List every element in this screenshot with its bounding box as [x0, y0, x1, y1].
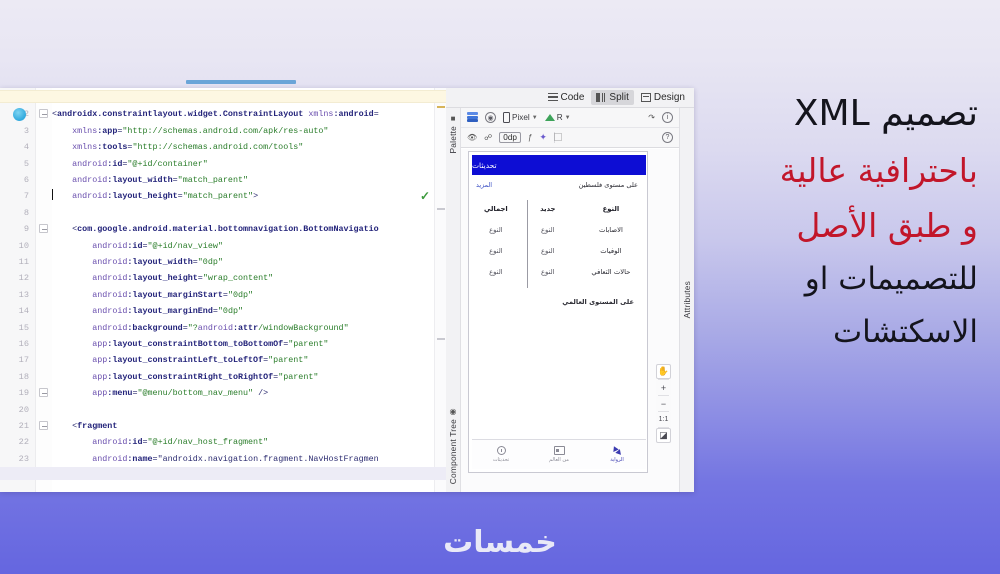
line-number: 14 [19, 307, 29, 316]
attributes-label: Attributes [682, 281, 692, 318]
bottom-nav-item-2[interactable]: من العالم [530, 446, 588, 463]
column-header-total: اجمالي [472, 205, 520, 213]
tab-design-label: Design [654, 92, 685, 103]
column-header-type: النوع [576, 205, 646, 213]
error-stripe-tick[interactable] [437, 106, 445, 108]
magic-wand-icon[interactable]: ✦ [539, 132, 547, 143]
design-toolbar-row-2: 👁 ☍ 0dp ƒ ✦ ⃞ ? [461, 128, 679, 148]
code-line: android:layout_height="wrap_content" [52, 274, 273, 282]
zoom-out-icon[interactable]: − [656, 396, 671, 411]
design-toolbar-row-1: ◉ Pixel ▼ R ▼ ↷ i [461, 108, 679, 128]
line-number: 13 [19, 291, 29, 300]
code-line: android:id="@+id/nav_view" [52, 242, 223, 250]
visibility-icon[interactable]: 👁 [467, 133, 477, 142]
cell-total: النوع [472, 247, 520, 255]
device-preview-frame[interactable]: تحديثات على مستوى فلسطين المزيد النوع جد… [468, 151, 648, 473]
palette-label: Palette [448, 126, 458, 153]
api-label: R [557, 113, 563, 122]
component-tree-icon: ◉ [450, 407, 457, 416]
code-text[interactable]: <?xml version="1.0" encoding="utf-8"?><a… [52, 88, 420, 492]
promo-line-2: باحترافية عالية [710, 154, 978, 187]
component-tree-label: Component Tree [448, 419, 458, 484]
code-line: android:layout_width="0dp" [52, 258, 223, 266]
code-line: android:id="@+id/nav_host_fragment" [52, 438, 268, 446]
line-number-gutter: 123456789101112131415161718192021222324 [0, 88, 36, 492]
birds-icon [612, 446, 623, 455]
line-number: 12 [19, 274, 29, 283]
preview-footnote: على المستوى العالمي [472, 298, 646, 306]
zoom-fit-icon[interactable]: ◪ [656, 428, 671, 443]
fold-toggle[interactable] [39, 109, 48, 118]
history-arrow-icon[interactable]: ↷ [648, 113, 655, 122]
code-line: android:layout_width="match_parent" [52, 176, 248, 184]
design-frame-icon [641, 93, 651, 102]
layers-icon[interactable] [467, 112, 478, 123]
editor-mode-tabs: Code Split Design [446, 88, 694, 108]
code-line: app:layout_constraintRight_toRightOf="pa… [52, 373, 318, 381]
class-marker-icon[interactable] [13, 108, 26, 121]
left-tool-strip: ■ Palette ◉ Component Tree [446, 108, 461, 492]
table-row: الوفيات النوع النوع [472, 240, 646, 261]
fold-toggle[interactable] [39, 388, 48, 397]
line-number: 16 [19, 340, 29, 349]
brand-watermark: خمسات [0, 525, 1000, 560]
blueprint-eye-icon[interactable]: ◉ [485, 112, 496, 123]
promo-line-3: و طبق الأصل [710, 209, 978, 242]
code-line: android:layout_height="match_parent"> [52, 192, 258, 200]
cell-total: النوع [472, 226, 520, 234]
stats-table: النوع جديد اجمالي الاصابات النوع النوع ا… [472, 198, 646, 282]
bottom-nav-item-1[interactable]: الرواية [588, 446, 646, 463]
bottom-navigation-bar[interactable]: الرواية من العالم تحديثات [472, 439, 646, 469]
component-tree-tool-button[interactable]: ◉ Component Tree [448, 407, 458, 484]
clock-icon [497, 446, 506, 455]
cell-type: حالات التعافي [576, 268, 646, 276]
active-tab-indicator [186, 80, 296, 84]
line-number: 17 [19, 356, 29, 365]
promo-line-5: الاسكتشات [710, 317, 978, 348]
code-line: app:layout_constraintBottom_toBottomOf="… [52, 340, 328, 348]
help-circle-icon[interactable]: ? [662, 132, 673, 143]
table-row: الاصابات النوع النوع [472, 219, 646, 240]
cell-type: الاصابات [576, 226, 646, 234]
error-stripe-tick[interactable] [437, 338, 445, 340]
code-line: <fragment [52, 422, 117, 430]
bottom-nav-item-3[interactable]: تحديثات [472, 446, 530, 463]
device-label: Pixel [512, 113, 530, 122]
fold-toggle[interactable] [39, 421, 48, 430]
line-number: 22 [19, 438, 29, 447]
line-number: 7 [24, 192, 29, 201]
tab-design[interactable]: Design [636, 90, 690, 105]
code-line: app:layout_constraintLeft_toLeftOf="pare… [52, 356, 308, 364]
tab-code[interactable]: Code [543, 90, 590, 105]
code-fold-column[interactable] [36, 88, 52, 492]
card-icon [554, 446, 565, 455]
selected-line-highlight [0, 467, 446, 480]
promo-text-block: تصميم XML باحترافية عالية و طبق الأصل لل… [710, 96, 978, 348]
chevron-down-icon: ▼ [532, 115, 538, 121]
line-number: 9 [24, 225, 29, 234]
current-line-highlight [0, 90, 446, 103]
preview-canvas[interactable]: تحديثات على مستوى فلسطين المزيد النوع جد… [461, 149, 679, 492]
fold-toggle[interactable] [39, 224, 48, 233]
pan-hand-icon[interactable]: ✋ [656, 364, 671, 379]
tab-split-label: Split [609, 92, 628, 103]
line-number: 10 [19, 242, 29, 251]
palette-tool-button[interactable]: ■ Palette [448, 114, 458, 153]
bottom-nav-label-2: من العالم [549, 457, 569, 463]
line-number: 23 [19, 455, 29, 464]
app-bar: تحديثات [472, 155, 646, 175]
more-link[interactable]: المزيد [476, 181, 492, 189]
table-row: حالات التعافي النوع النوع [472, 261, 646, 282]
line-number: 8 [24, 209, 29, 218]
zoom-in-icon[interactable]: + [656, 380, 671, 395]
line-number: 5 [24, 160, 29, 169]
cell-total: النوع [472, 268, 520, 276]
promo-line-1: تصميم XML [710, 96, 978, 132]
code-line: xmlns:app="http://schemas.android.com/ap… [52, 127, 328, 135]
code-line: android:layout_marginStart="0dp" [52, 291, 253, 299]
line-number: 4 [24, 143, 29, 152]
zoom-controls[interactable]: ✋ + − 1:1 ◪ [656, 364, 671, 443]
tab-code-label: Code [561, 92, 585, 103]
promo-line-4: للتصميمات او [710, 264, 978, 295]
code-line: android:id="@+id/container" [52, 160, 208, 168]
code-lines-icon [548, 93, 558, 102]
table-header-row: النوع جديد اجمالي [472, 198, 646, 219]
code-line: app:menu="@menu/bottom_nav_menu" /> [52, 389, 268, 397]
code-line: android:name="androidx.navigation.fragme… [52, 455, 379, 463]
line-number: 11 [19, 258, 29, 267]
line-number: 15 [19, 324, 29, 333]
info-circle-icon[interactable]: i [662, 112, 673, 123]
palette-icon: ■ [451, 114, 456, 123]
chevron-down-icon: ▼ [565, 115, 571, 121]
line-number: 19 [19, 389, 29, 398]
margin-value[interactable]: 0dp [499, 132, 521, 143]
error-stripe-marker-column[interactable] [434, 88, 446, 492]
android-studio-window: 123456789101112131415161718192021222324 … [0, 88, 694, 492]
zoom-actual-icon[interactable]: 1:1 [656, 412, 671, 427]
line-number: 21 [19, 422, 29, 431]
design-surface[interactable]: ◉ Pixel ▼ R ▼ ↷ i 👁 ☍ 0dp ƒ ✦ ⃞ ? [461, 108, 679, 492]
inspection-ok-icon[interactable]: ✓ [420, 189, 430, 203]
cell-type: الوفيات [576, 247, 646, 255]
android-version-icon [545, 114, 555, 121]
text-caret [52, 189, 53, 200]
line-number: 20 [19, 406, 29, 415]
api-selector[interactable]: R ▼ [545, 113, 571, 122]
bottom-nav-label-3: تحديثات [493, 457, 509, 463]
code-line: <androidx.constraintlayout.widget.Constr… [52, 110, 379, 118]
line-number: 18 [19, 373, 29, 382]
bottom-nav-label-1: الرواية [610, 457, 624, 463]
code-line: xmlns:tools="http://schemas.android.com/… [52, 143, 303, 151]
table-divider [527, 200, 528, 288]
device-selector[interactable]: Pixel ▼ [503, 112, 538, 123]
preview-subtitle: على مستوى فلسطين [472, 181, 646, 189]
split-panes-icon [596, 93, 606, 102]
code-line: android:background="?android:attr/window… [52, 324, 349, 332]
code-line: android:layout_marginEnd="0dp" [52, 307, 243, 315]
magnet-off-icon[interactable]: ☍ [484, 133, 492, 142]
app-bar-title: تحديثات [472, 161, 497, 170]
phone-icon [503, 112, 510, 123]
code-editor-pane[interactable]: 123456789101112131415161718192021222324 … [0, 88, 446, 492]
right-tool-strip[interactable]: Attributes [679, 108, 694, 492]
fx-error-icon[interactable]: ƒ [528, 133, 532, 142]
error-stripe-tick[interactable] [437, 208, 445, 210]
line-number: 6 [24, 176, 29, 185]
tab-split[interactable]: Split [591, 90, 633, 105]
code-line: <com.google.android.material.bottomnavig… [52, 225, 379, 233]
line-number: 3 [24, 127, 29, 136]
